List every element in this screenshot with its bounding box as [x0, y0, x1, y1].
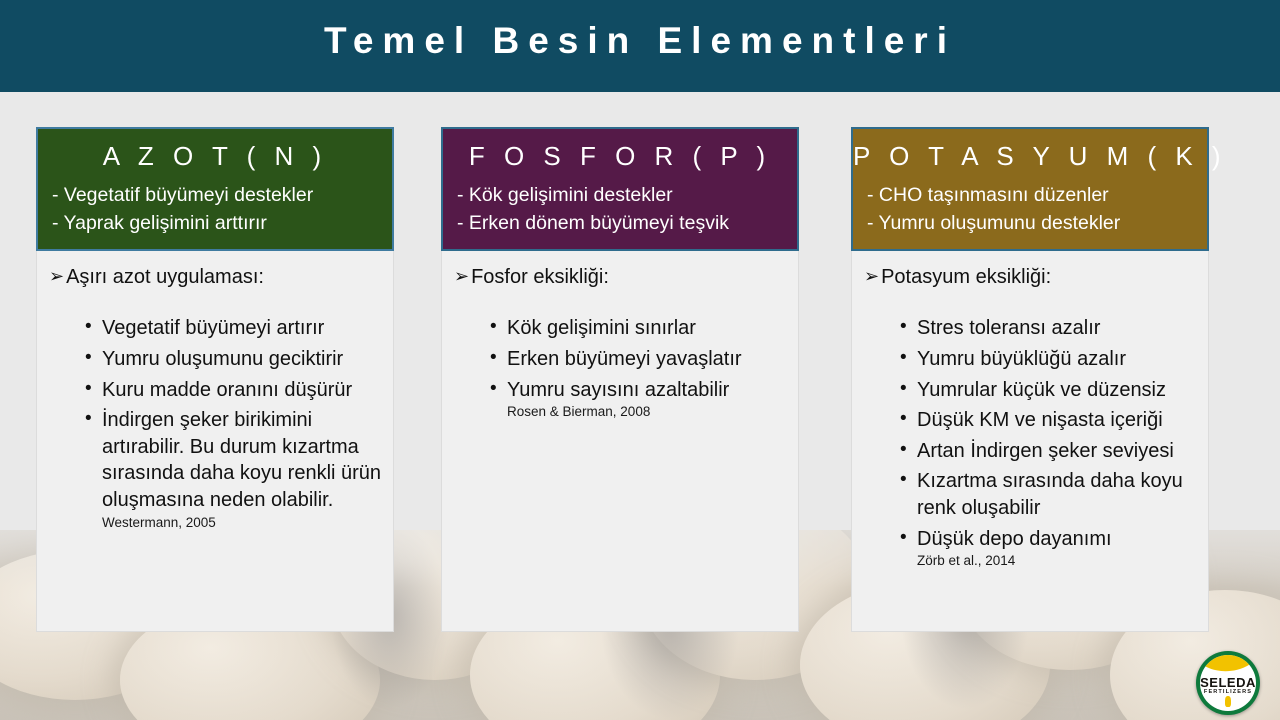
- card-body-phosphorus: ➢ Fosfor eksikliği: Kök gelişimini sınır…: [441, 251, 799, 632]
- list-item: Erken büyümeyi yavaşlatır: [490, 346, 790, 373]
- seleda-logo: SELEDA FERTILIZERS: [1196, 651, 1260, 715]
- bullet-list-phosphorus: Kök gelişimini sınırlar Erken büyümeyi y…: [450, 315, 790, 421]
- citation: Westermann, 2005: [102, 515, 385, 532]
- arrow-bullet-icon: ➢: [454, 265, 469, 288]
- card-lead-text: Aşırı azot uygulaması:: [66, 265, 264, 289]
- list-item: Yumru büyüklüğü azalır: [900, 346, 1200, 373]
- list-item: Artan İndirgen şeker seviyesi: [900, 438, 1200, 465]
- card-title-nitrogen: A Z O T ( N ): [38, 139, 392, 182]
- logo-sprout-icon: [1225, 696, 1231, 707]
- list-item: Stres toleransı azalır: [900, 315, 1200, 342]
- citation: Zörb et al., 2014: [917, 553, 1200, 570]
- list-item: Kızartma sırasında daha koyu renk oluşab…: [900, 468, 1200, 521]
- list-item: Yumru oluşumunu geciktirir: [85, 346, 385, 373]
- list-item: Düşük depo dayanımı Zörb et al., 2014: [900, 526, 1200, 570]
- card-subpoint: - Vegetatif büyümeyi destekler: [38, 182, 392, 210]
- list-item-text: İndirgen şeker birikimini artırabilir. B…: [102, 409, 381, 511]
- list-item: Kök gelişimini sınırlar: [490, 315, 790, 342]
- card-lead-potassium: ➢ Potasyum eksikliği:: [860, 261, 1200, 289]
- nutrient-columns: A Z O T ( N ) - Vegetatif büyümeyi deste…: [0, 0, 1280, 720]
- arrow-bullet-icon: ➢: [49, 265, 64, 288]
- card-subpoint: - Kök gelişimini destekler: [443, 182, 797, 210]
- list-item: Düşük KM ve nişasta içeriği: [900, 407, 1200, 434]
- card-header-potassium: P O T A S Y U M ( K ) - CHO taşınmasını …: [851, 127, 1209, 251]
- logo-brand-text: SELEDA: [1200, 675, 1256, 690]
- nutrient-card-nitrogen: A Z O T ( N ) - Vegetatif büyümeyi deste…: [36, 127, 394, 632]
- card-subpoint: - Erken dönem büyümeyi teşvik: [443, 210, 797, 238]
- card-body-nitrogen: ➢ Aşırı azot uygulaması: Vegetatif büyüm…: [36, 251, 394, 632]
- list-item-text: Düşük depo dayanımı: [917, 528, 1112, 550]
- card-subpoint: - Yaprak gelişimini arttırır: [38, 210, 392, 238]
- logo-tagline-text: FERTILIZERS: [1200, 689, 1256, 695]
- list-item: Yumrular küçük ve düzensiz: [900, 377, 1200, 404]
- list-item: Kuru madde oranını düşürür: [85, 377, 385, 404]
- list-item-text: Yumru sayısını azaltabilir: [507, 379, 729, 401]
- logo-yellow-arc-icon: [1200, 655, 1256, 675]
- card-header-nitrogen: A Z O T ( N ) - Vegetatif büyümeyi deste…: [36, 127, 394, 251]
- list-item: Vegetatif büyümeyi artırır: [85, 315, 385, 342]
- card-body-potassium: ➢ Potasyum eksikliği: Stres toleransı az…: [851, 251, 1209, 632]
- list-item: Yumru sayısını azaltabilir Rosen & Bierm…: [490, 377, 790, 421]
- card-title-phosphorus: F O S F O R ( P ): [443, 139, 797, 182]
- nutrient-card-phosphorus: F O S F O R ( P ) - Kök gelişimini deste…: [441, 127, 799, 632]
- card-lead-nitrogen: ➢ Aşırı azot uygulaması:: [45, 261, 385, 289]
- logo-inner-disc: SELEDA FERTILIZERS: [1200, 655, 1256, 711]
- bullet-list-nitrogen: Vegetatif büyümeyi artırır Yumru oluşumu…: [45, 315, 385, 531]
- arrow-bullet-icon: ➢: [864, 265, 879, 288]
- card-lead-text: Fosfor eksikliği:: [471, 265, 609, 289]
- card-title-potassium: P O T A S Y U M ( K ): [853, 139, 1207, 182]
- nutrient-card-potassium: P O T A S Y U M ( K ) - CHO taşınmasını …: [851, 127, 1209, 632]
- slide: Temel Besin Elementleri A Z O T ( N ) - …: [0, 0, 1280, 720]
- card-lead-text: Potasyum eksikliği:: [881, 265, 1051, 289]
- card-subpoint: - CHO taşınmasını düzenler: [853, 182, 1207, 210]
- card-header-phosphorus: F O S F O R ( P ) - Kök gelişimini deste…: [441, 127, 799, 251]
- bullet-list-potassium: Stres toleransı azalır Yumru büyüklüğü a…: [860, 315, 1200, 570]
- card-subpoint: - Yumru oluşumunu destekler: [853, 210, 1207, 238]
- card-lead-phosphorus: ➢ Fosfor eksikliği:: [450, 261, 790, 289]
- citation: Rosen & Bierman, 2008: [507, 404, 790, 421]
- list-item: İndirgen şeker birikimini artırabilir. B…: [85, 407, 385, 531]
